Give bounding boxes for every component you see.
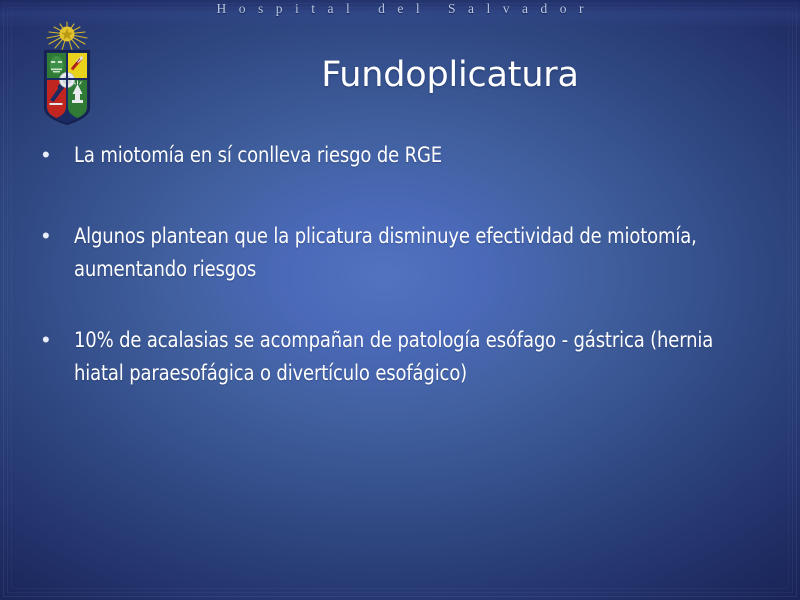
organization-header: Hospital del Salvador bbox=[0, 1, 800, 17]
page-title: Fundoplicatura bbox=[140, 53, 760, 97]
bullet-dot-icon: • bbox=[38, 139, 74, 171]
bullet-dot-icon: • bbox=[38, 324, 74, 356]
slide-canvas: Hospital del Salvador bbox=[0, 0, 800, 600]
bullet-text-2: Algunos plantean que la plicatura dismin… bbox=[74, 220, 719, 286]
bullet-dot-icon: • bbox=[38, 220, 74, 252]
list-item: • La miotomía en sí conlleva riesgo de R… bbox=[38, 139, 768, 172]
bullet-text-3: 10% de acalasias se acompañan de patolog… bbox=[74, 324, 719, 390]
list-item: • Algunos plantean que la plicatura dism… bbox=[38, 220, 768, 286]
bullet-text-1: La miotomía en sí conlleva riesgo de RGE bbox=[74, 139, 719, 172]
star-rays bbox=[47, 22, 87, 50]
bullet-list: • La miotomía en sí conlleva riesgo de R… bbox=[38, 139, 768, 390]
list-item: • 10% de acalasias se acompañan de patol… bbox=[38, 324, 768, 390]
mask-emblem bbox=[50, 56, 64, 74]
shield bbox=[45, 51, 89, 124]
hospital-logo bbox=[36, 20, 98, 128]
spacer-1 bbox=[38, 172, 768, 220]
spacer-2 bbox=[38, 286, 768, 324]
